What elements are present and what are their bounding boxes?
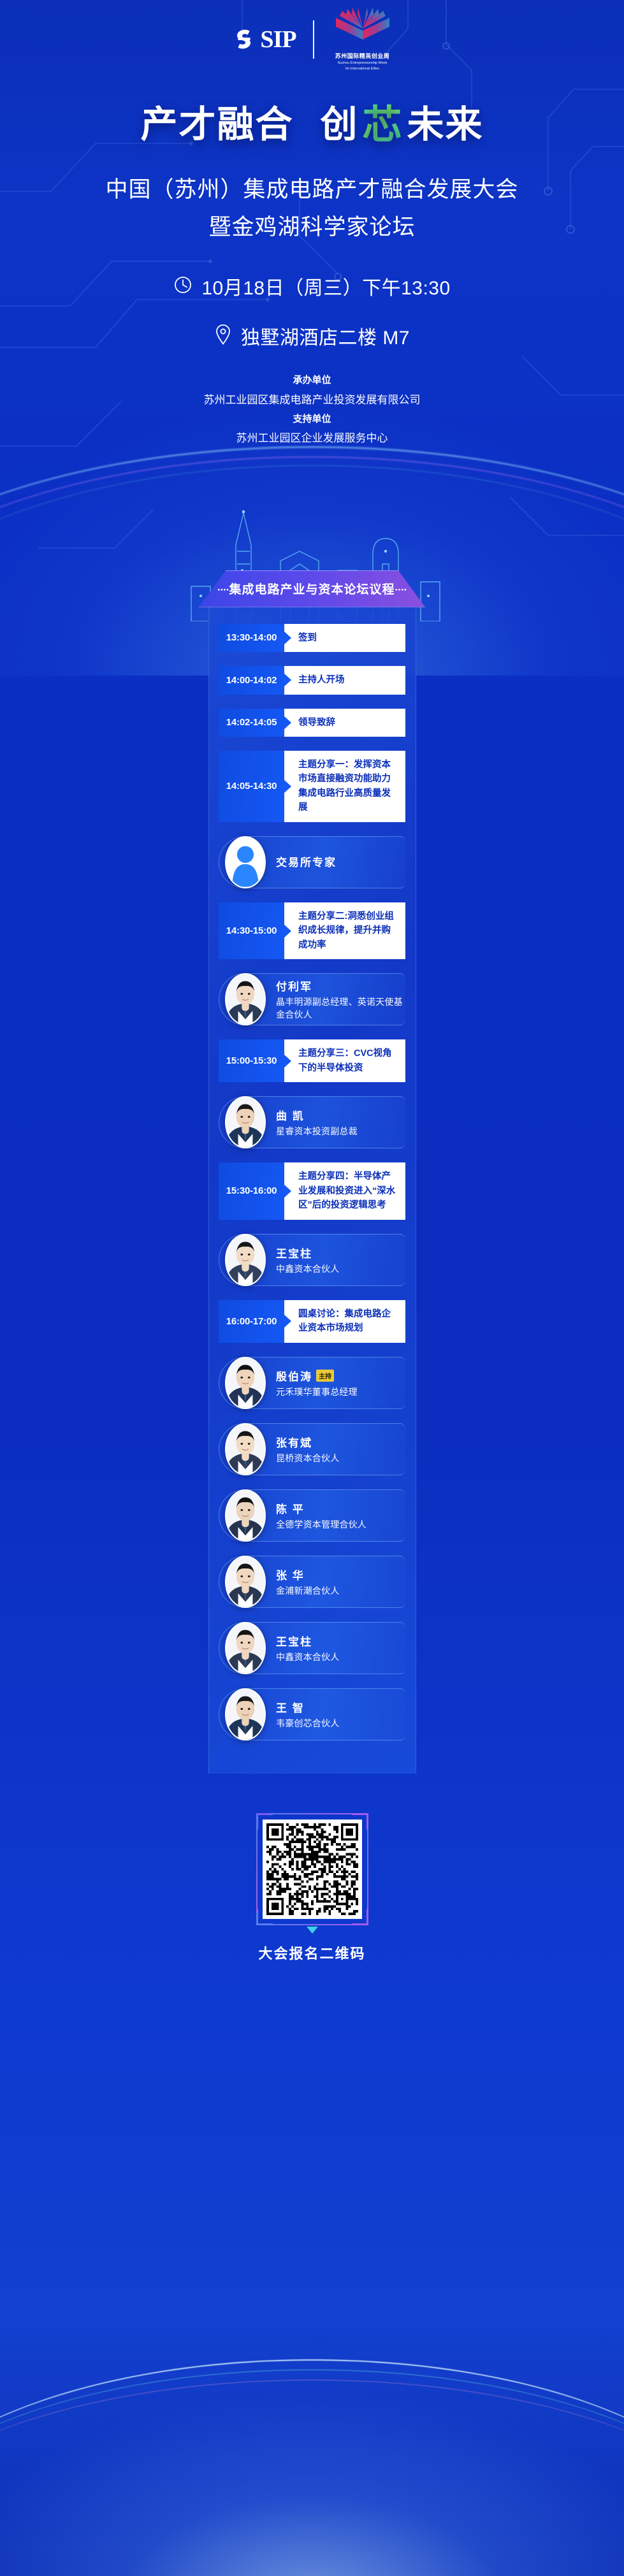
speaker-name-text: 张有斌 <box>276 1434 312 1450</box>
agenda-slot: 16:00-17:00圆桌讨论：集成电路企业资本市场规划 <box>219 1300 405 1343</box>
bottom-arc-2 <box>0 2370 624 2561</box>
speaker-title: 晶丰明源副总经理、英诺天使基金合伙人 <box>276 995 405 1021</box>
agenda-slot-title: 领导致辞 <box>284 709 405 737</box>
agenda-slot-time: 14:30-15:00 <box>219 902 284 959</box>
hero-section: 产才融合 创 芯 未来 中国（苏州）集成电路产才融合发展大会 暨金鸡湖科学家论坛… <box>0 67 624 449</box>
agenda-slot-title: 主题分享三：CVC视角下的半导体投资 <box>284 1039 405 1082</box>
organizer-value-0: 苏州工业园区集成电路产业投资发展有限公司 <box>0 390 624 410</box>
placeholder-person-icon <box>225 836 266 888</box>
sip-swirl-icon <box>229 25 259 54</box>
speaker-name: 王 智 <box>276 1699 339 1715</box>
speaker-info: 陈 平全德学资本管理合伙人 <box>266 1500 366 1531</box>
speaker-avatar <box>225 1622 266 1674</box>
agenda-slot-time: 13:30-14:00 <box>219 624 284 652</box>
speaker-name-text: 张 华 <box>276 1567 305 1582</box>
partner-logo-en-line1: Suzhou Entrepreneurship Week <box>338 61 388 66</box>
qr-code-icon[interactable] <box>263 1820 362 1919</box>
agenda-slot: 15:30-16:00主题分享四：半导体产业发展和投资进入“深水区”后的投资逻辑… <box>219 1162 405 1219</box>
qr-corner-bottom-right <box>352 1909 368 1925</box>
banner-dots-right: ···· <box>395 584 407 596</box>
speaker-title: 全德学资本管理合伙人 <box>276 1518 366 1531</box>
location-pin-icon <box>214 324 232 349</box>
speaker-card: 王 智韦豪创芯合伙人 <box>219 1688 405 1740</box>
speaker-name: 张有斌 <box>276 1434 339 1450</box>
speaker-name: 交易所专家 <box>276 853 337 869</box>
speaker-name-text: 曲 凯 <box>276 1107 305 1123</box>
qr-caption: 大会报名二维码 <box>0 1943 624 1963</box>
speaker-name: 王宝柱 <box>276 1633 339 1649</box>
agenda-banner: ····集成电路产业与资本论坛议程···· <box>199 570 425 607</box>
qr-edge-left <box>256 1826 258 1913</box>
speaker-title: 中鑫资本合伙人 <box>276 1651 339 1663</box>
sip-logo-text: SIP <box>260 25 296 54</box>
speaker-info: 张有斌昆桥资本合伙人 <box>266 1434 339 1465</box>
agenda-slot: 14:02-14:05领导致辞 <box>219 709 405 737</box>
speaker-avatar <box>225 1556 266 1608</box>
qr-edge-right <box>367 1826 368 1913</box>
speaker-avatar <box>225 1096 266 1148</box>
speaker-info: 殷伯涛主持元禾璞华董事总经理 <box>266 1368 358 1398</box>
bottom-arc-1 <box>0 2359 624 2551</box>
agenda-slot-title: 主持人开场 <box>284 666 405 694</box>
speaker-avatar <box>225 1423 266 1475</box>
agenda-slot-title: 签到 <box>284 624 405 652</box>
speaker-card: 陈 平全德学资本管理合伙人 <box>219 1489 405 1542</box>
agenda-section: ····集成电路产业与资本论坛议程···· 13:30-14:00签到14:00… <box>0 570 624 1774</box>
agenda-slot: 14:30-15:00主题分享二:洞悉创业组织成长规律，提升并购成功率 <box>219 902 405 959</box>
speaker-avatar <box>225 1688 266 1740</box>
agenda-banner-title: ····集成电路产业与资本论坛议程···· <box>217 580 407 597</box>
bottom-glow-decoration <box>0 2391 624 2576</box>
speaker-name-text: 陈 平 <box>276 1500 305 1516</box>
sew-logo: 苏州国际精英创业周 Suzhou Entrepreneurship Week f… <box>331 8 395 71</box>
agenda-list: 13:30-14:00签到14:00-14:02主持人开场14:02-14:05… <box>208 607 416 1774</box>
sip-logo: SIP <box>229 25 296 54</box>
speaker-info: 付利军晶丰明源副总经理、英诺天使基金合伙人 <box>266 978 405 1021</box>
open-book-fan-icon <box>331 8 395 50</box>
agenda-slot: 14:00-14:02主持人开场 <box>219 666 405 694</box>
speaker-title: 星睿资本投资副总裁 <box>276 1125 358 1138</box>
qr-triangle-decoration <box>307 1927 318 1934</box>
speaker-name: 殷伯涛主持 <box>276 1368 358 1384</box>
qr-edge-bottom <box>269 1924 356 1925</box>
agenda-slot-title: 主题分享四：半导体产业发展和投资进入“深水区”后的投资逻辑思考 <box>284 1162 405 1219</box>
main-title-part2: 创 <box>320 94 358 148</box>
agenda-slot-time: 14:05-14:30 <box>219 751 284 822</box>
partner-logo-cn: 苏州国际精英创业周 <box>335 52 390 60</box>
main-title-part3: 未来 <box>407 94 484 148</box>
speaker-title: 韦豪创芯合伙人 <box>276 1717 339 1730</box>
speaker-name: 付利军 <box>276 978 405 994</box>
speaker-name-text: 王 智 <box>276 1699 305 1715</box>
speaker-name-text: 交易所专家 <box>276 853 337 869</box>
speaker-info: 曲 凯星睿资本投资副总裁 <box>266 1107 358 1138</box>
speaker-card: 曲 凯星睿资本投资副总裁 <box>219 1096 405 1148</box>
speaker-card: 交易所专家 <box>219 836 405 888</box>
speaker-info: 王宝柱中鑫资本合伙人 <box>266 1633 339 1663</box>
agenda-slot: 15:00-15:30主题分享三：CVC视角下的半导体投资 <box>219 1039 405 1082</box>
bottom-arc-3 <box>0 2380 624 2571</box>
speaker-name-text: 付利军 <box>276 978 312 994</box>
banner-title-text: 集成电路产业与资本论坛议程 <box>229 583 395 597</box>
subtitle-line-1: 中国（苏州）集成电路产才融合发展大会 <box>0 171 624 204</box>
speaker-info: 王宝柱中鑫资本合伙人 <box>266 1245 339 1275</box>
speaker-card: 王宝柱中鑫资本合伙人 <box>219 1234 405 1286</box>
agenda-slot-title: 圆桌讨论：集成电路企业资本市场规划 <box>284 1300 405 1343</box>
speaker-title: 中鑫资本合伙人 <box>276 1263 339 1275</box>
event-date-row: 10月18日（周三）下午13:30 <box>0 272 624 300</box>
agenda-slot-time: 15:30-16:00 <box>219 1162 284 1219</box>
speaker-card: 张 华金浦新潮合伙人 <box>219 1556 405 1608</box>
organizer-label-0: 承办单位 <box>0 372 624 390</box>
speaker-name-text: 王宝柱 <box>276 1245 312 1261</box>
conference-poster: SIP <box>0 0 624 2576</box>
speaker-card: 张有斌昆桥资本合伙人 <box>219 1423 405 1475</box>
speaker-card: 王宝柱中鑫资本合伙人 <box>219 1622 405 1674</box>
event-location-text: 独墅湖酒店二楼 M7 <box>241 322 410 350</box>
speaker-title: 元禾璞华董事总经理 <box>276 1386 358 1398</box>
speaker-info: 王 智韦豪创芯合伙人 <box>266 1699 339 1730</box>
agenda-slot: 13:30-14:00签到 <box>219 624 405 652</box>
header-logo-bar: SIP <box>0 0 624 67</box>
event-meta: 10月18日（周三）下午13:30 独墅湖酒店二楼 M7 <box>0 272 624 350</box>
organizers-block: 承办单位 苏州工业园区集成电路产业投资发展有限公司 支持单位 苏州工业园区企业发… <box>0 372 624 449</box>
qr-corner-top-left <box>256 1813 273 1830</box>
agenda-slot-time: 14:00-14:02 <box>219 666 284 694</box>
speaker-avatar <box>225 1489 266 1542</box>
organizer-value-1: 苏州工业园区企业发展服务中心 <box>0 428 624 449</box>
speaker-name-text: 王宝柱 <box>276 1633 312 1649</box>
banner-dots-left: ···· <box>217 584 229 596</box>
speaker-avatar <box>225 973 266 1025</box>
speaker-name: 张 华 <box>276 1567 339 1582</box>
qr-frame <box>256 1813 368 1925</box>
agenda-slot: 14:05-14:30主题分享一：发挥资本市场直接融资功能助力集成电路行业高质量… <box>219 751 405 822</box>
event-location-row: 独墅湖酒店二楼 M7 <box>0 322 624 350</box>
agenda-slot-time: 14:02-14:05 <box>219 709 284 737</box>
main-title-part1: 产才融合 <box>140 94 293 148</box>
speaker-title: 金浦新潮合伙人 <box>276 1584 339 1597</box>
speaker-name: 曲 凯 <box>276 1107 358 1123</box>
main-title: 产才融合 创 芯 未来 <box>0 92 624 150</box>
event-date-text: 10月18日（周三）下午13:30 <box>201 272 450 300</box>
qr-section: 大会报名二维码 <box>0 1813 624 1963</box>
main-title-highlight-xin: 芯 <box>363 92 403 150</box>
speaker-name: 陈 平 <box>276 1500 366 1516</box>
speaker-card: 殷伯涛主持元禾璞华董事总经理 <box>219 1357 405 1409</box>
clock-icon <box>173 275 192 298</box>
speaker-name: 王宝柱 <box>276 1245 339 1261</box>
qr-corner-bottom-left <box>256 1909 273 1925</box>
speaker-info: 交易所专家 <box>266 853 337 871</box>
organizer-label-1: 支持单位 <box>0 410 624 429</box>
qr-edge-top <box>269 1813 356 1814</box>
agenda-slot-time: 15:00-15:30 <box>219 1039 284 1082</box>
logo-divider <box>313 20 314 59</box>
subtitle-line-2: 暨金鸡湖科学家论坛 <box>0 209 624 242</box>
agenda-slot-title: 主题分享一：发挥资本市场直接融资功能助力集成电路行业高质量发展 <box>284 751 405 822</box>
speaker-name-text: 殷伯涛 <box>276 1368 312 1384</box>
speaker-avatar <box>225 1234 266 1286</box>
moderator-badge: 主持 <box>316 1370 334 1382</box>
speaker-info: 张 华金浦新潮合伙人 <box>266 1567 339 1597</box>
qr-corner-top-right <box>352 1813 368 1830</box>
speaker-card: 付利军晶丰明源副总经理、英诺天使基金合伙人 <box>219 973 405 1025</box>
agenda-slot-time: 16:00-17:00 <box>219 1300 284 1343</box>
speaker-title: 昆桥资本合伙人 <box>276 1452 339 1465</box>
agenda-slot-title: 主题分享二:洞悉创业组织成长规律，提升并购成功率 <box>284 902 405 959</box>
speaker-avatar <box>225 1357 266 1409</box>
